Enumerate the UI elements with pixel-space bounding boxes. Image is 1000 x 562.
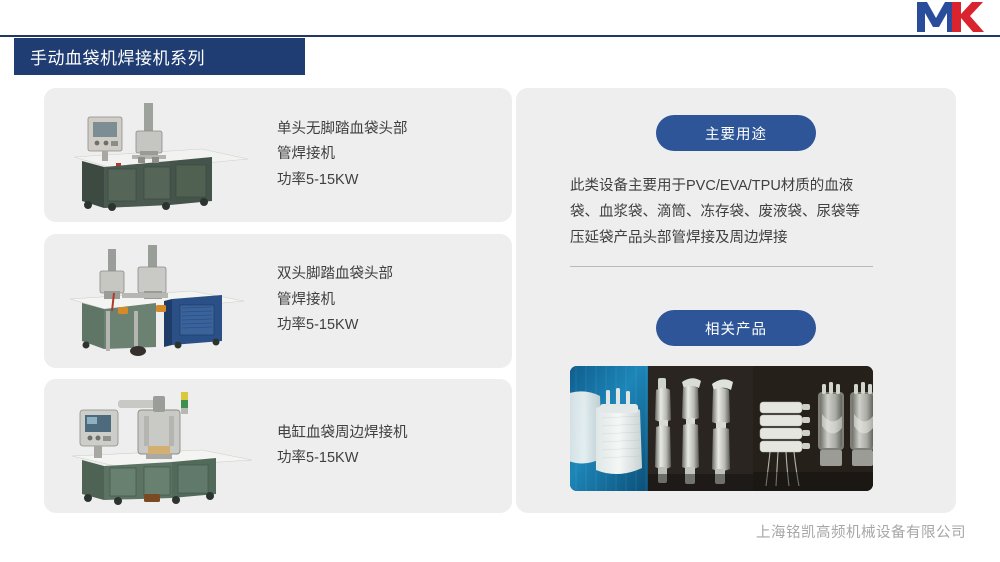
product-line: 管焊接机 (277, 142, 408, 167)
usage-line: 此类设备主要用于PVC/EVA/TPU材质的血液 (570, 174, 910, 200)
product-card[interactable]: 双头脚踏血袋头部 管焊接机 功率5-15KW (44, 234, 512, 368)
related-products-photo-strip[interactable] (570, 366, 873, 491)
mk-logo-icon (905, 0, 1000, 34)
usage-description: 此类设备主要用于PVC/EVA/TPU材质的血液 袋、血浆袋、滴筒、冻存袋、废液… (570, 174, 910, 251)
product-card-list: 单头无脚踏血袋头部 管焊接机 功率5-15KW (44, 88, 512, 513)
product-card[interactable]: 单头无脚踏血袋头部 管焊接机 功率5-15KW (44, 88, 512, 222)
product-line: 单头无脚踏血袋头部 (277, 117, 408, 142)
usage-line: 袋、血浆袋、滴筒、冻存袋、废液袋、尿袋等 (570, 200, 910, 226)
product-line: 电缸血袋周边焊接机 (277, 421, 408, 446)
product-line: 双头脚踏血袋头部 (277, 262, 393, 287)
page-title: 手动血袋机焊接机系列 (14, 38, 305, 75)
electric-cylinder-perimeter-welder-photo (52, 386, 267, 506)
company-footer: 上海铭凯高频机械设备有限公司 (756, 521, 966, 542)
header-top-rule (0, 35, 1000, 37)
usage-line: 压延袋产品头部管焊接及周边焊接 (570, 226, 910, 252)
brand-logo (905, 0, 1000, 34)
product-card[interactable]: 电缸血袋周边焊接机 功率5-15KW (44, 379, 512, 513)
info-panel: 主要用途 此类设备主要用于PVC/EVA/TPU材质的血液 袋、血浆袋、滴筒、冻… (516, 88, 956, 513)
single-head-no-pedal-welder-photo (52, 95, 267, 215)
related-products-pill-button[interactable]: 相关产品 (656, 310, 816, 346)
section-divider (570, 266, 873, 267)
product-description: 单头无脚踏血袋头部 管焊接机 功率5-15KW (277, 117, 408, 193)
product-line: 功率5-15KW (277, 446, 408, 471)
product-description: 电缸血袋周边焊接机 功率5-15KW (277, 421, 408, 472)
product-line: 功率5-15KW (277, 168, 408, 193)
usage-pill-button[interactable]: 主要用途 (656, 115, 816, 151)
product-line: 管焊接机 (277, 288, 393, 313)
product-line: 功率5-15KW (277, 313, 393, 338)
double-head-pedal-welder-photo (52, 241, 267, 361)
product-description: 双头脚踏血袋头部 管焊接机 功率5-15KW (277, 262, 393, 338)
